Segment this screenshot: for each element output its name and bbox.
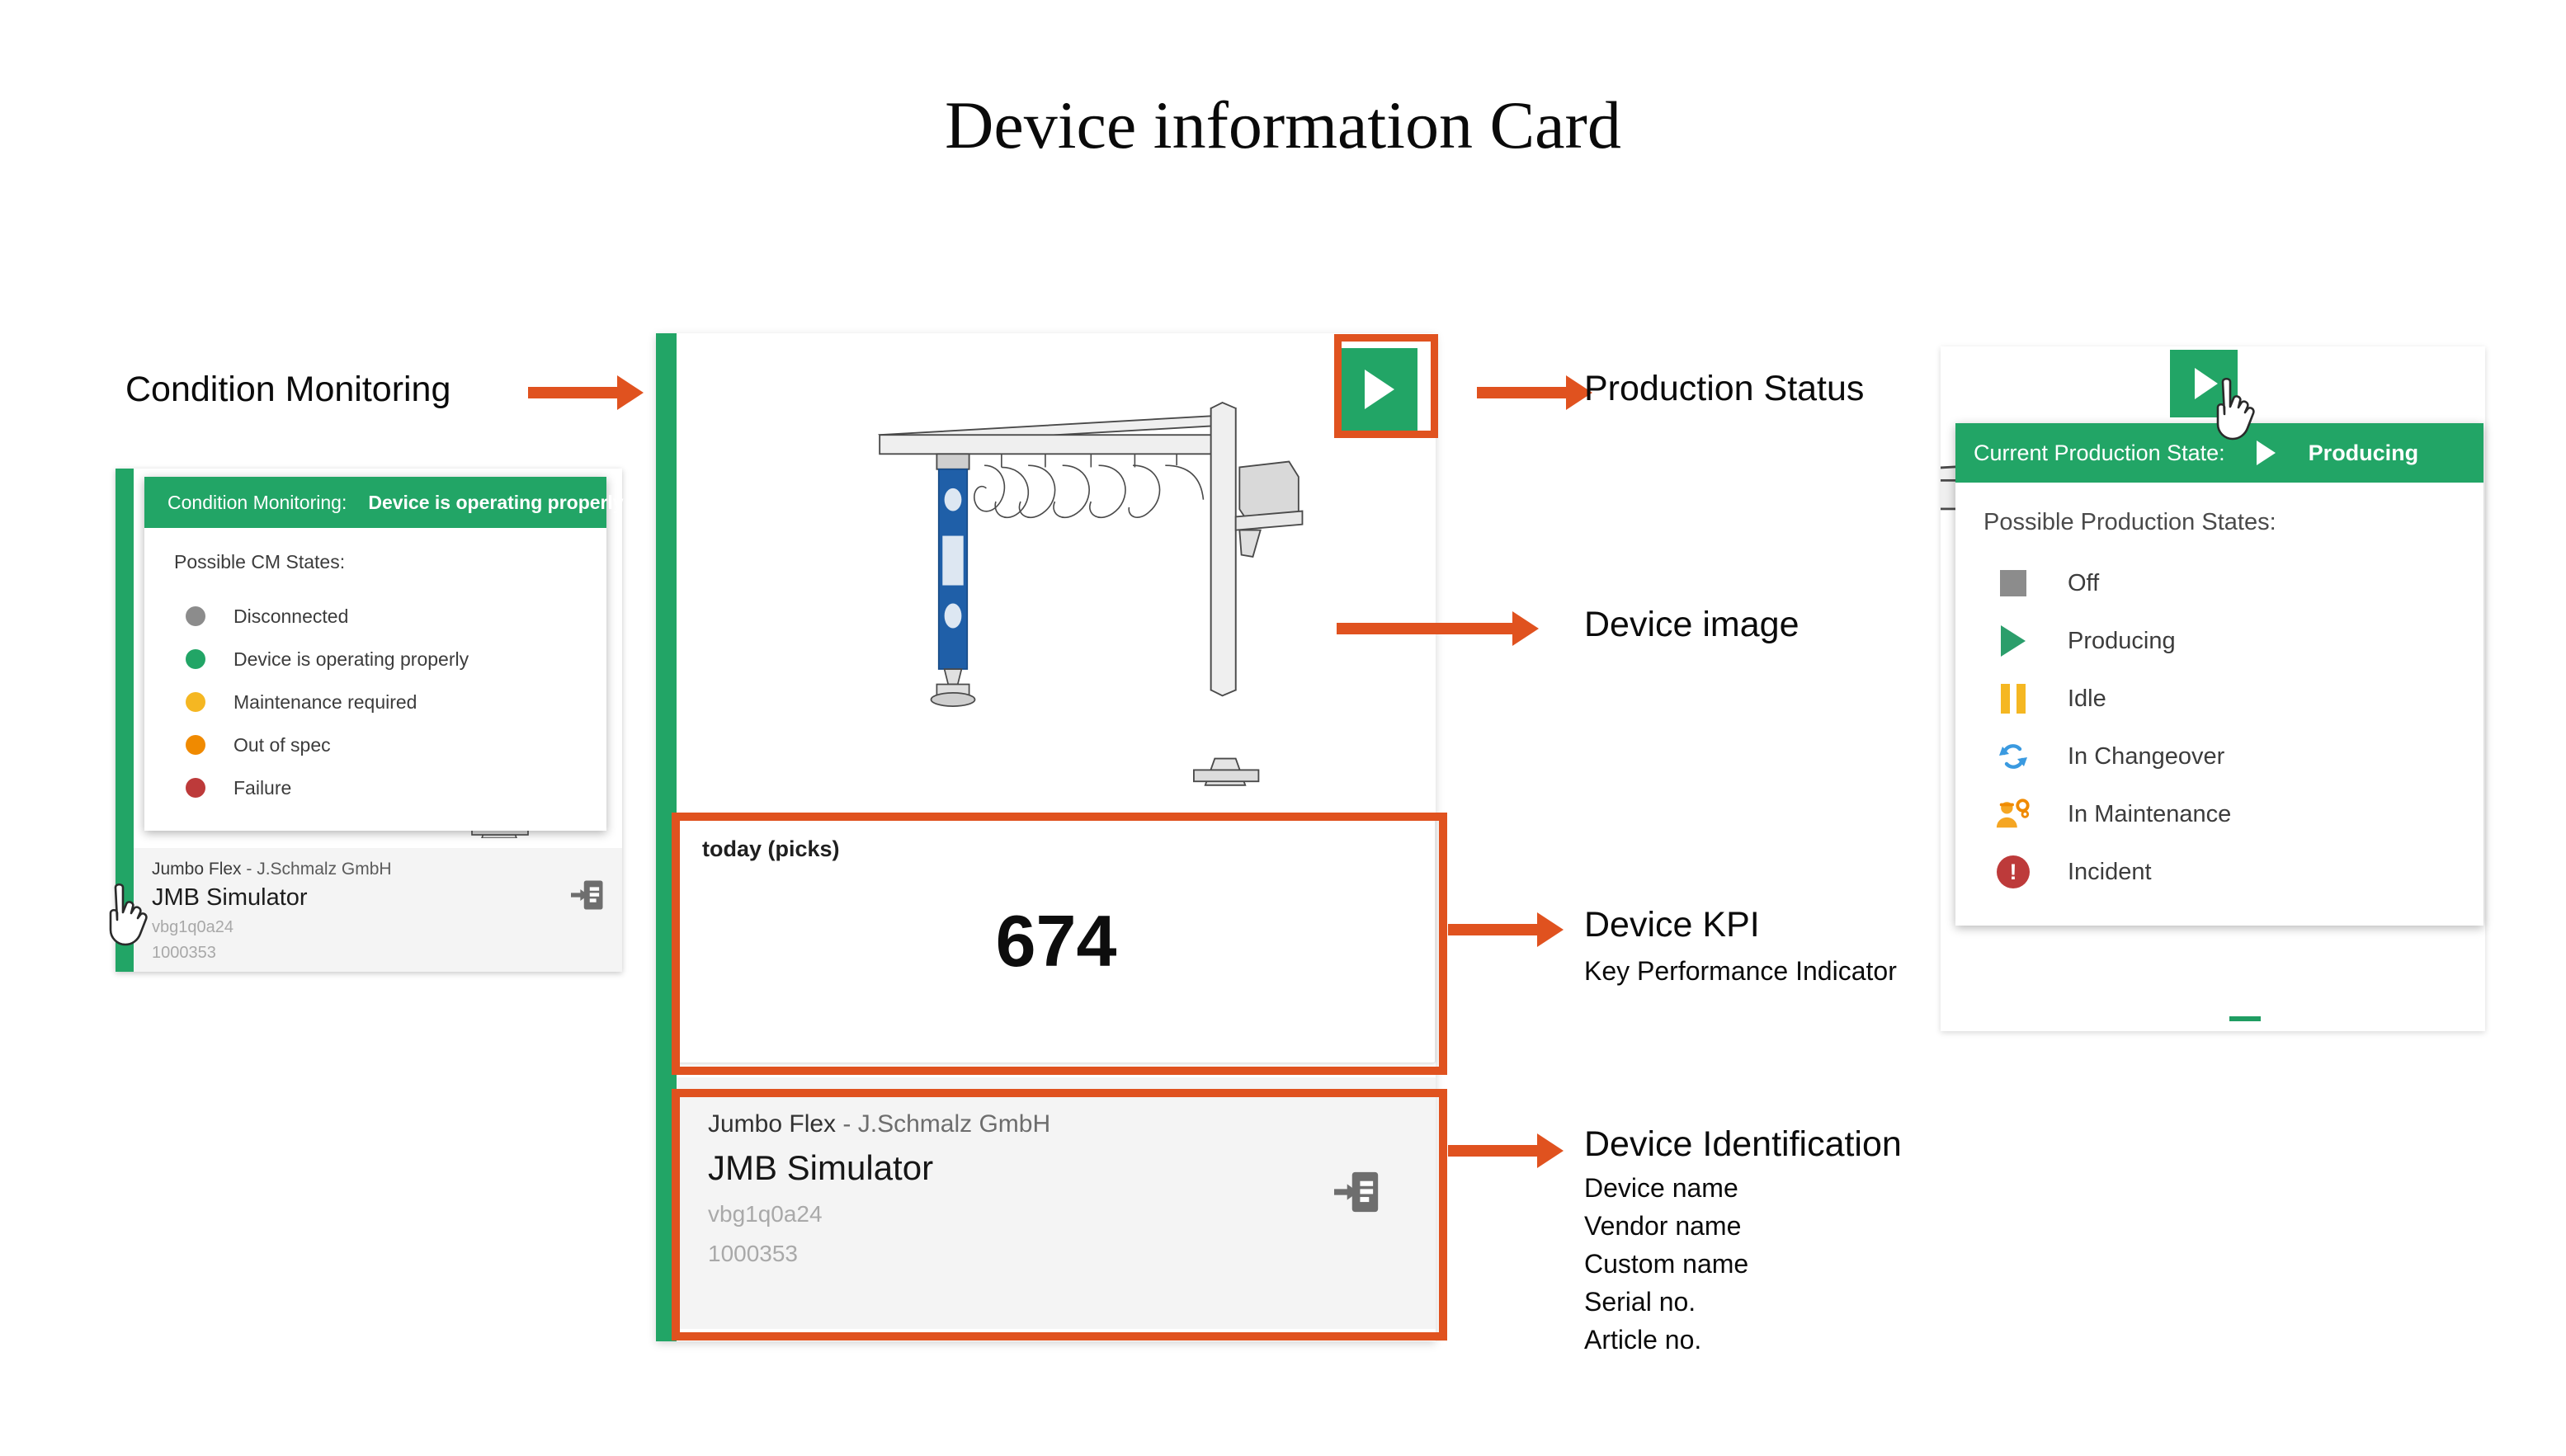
cm-popup-header: Condition Monitoring: Device is operatin… — [144, 477, 606, 528]
vendor-line: Jumbo Flex - J.Schmalz GmbH — [152, 860, 604, 879]
serial-no: vbg1q0a24 — [152, 918, 604, 937]
cm-state-label: Device is operating properly — [233, 648, 469, 671]
kpi-value: 674 — [677, 899, 1435, 983]
annotation-device-identification-line: Vendor name — [1584, 1208, 1741, 1245]
green-dot-icon — [186, 649, 205, 669]
condition-monitoring-bar[interactable] — [656, 333, 677, 1341]
cm-state-label: Failure — [233, 777, 291, 799]
device-information-card[interactable]: today (picks) 674 Jumbo Flex - J.Schmalz… — [656, 333, 1436, 1341]
cm-state-label: Out of spec — [233, 734, 331, 756]
ps-popup-header-label: Current Production State: — [1974, 441, 2225, 466]
annotation-arrow-device-image — [1337, 623, 1514, 634]
annotation-arrow-production-status — [1477, 387, 1568, 398]
cm-state-row[interactable]: Out of spec — [144, 723, 606, 766]
kpi-label: today (picks) — [702, 836, 840, 862]
ps-state-label: Idle — [2068, 686, 2106, 713]
annotation-device-identification: Device Identification — [1584, 1124, 1902, 1165]
red-exclamation-icon: ! — [1995, 854, 2031, 890]
vendor-name: J.Schmalz GmbH — [858, 1110, 1050, 1138]
page-title: Device information Card — [0, 87, 2566, 164]
orange-dot-icon — [186, 735, 205, 755]
login-enter-icon[interactable] — [1334, 1168, 1382, 1216]
cm-state-row[interactable]: Failure — [144, 766, 606, 809]
production-status-highlight — [1334, 334, 1438, 438]
ps-state-label: Incident — [2068, 859, 2152, 886]
cm-state-label: Disconnected — [233, 605, 348, 628]
cm-popup-header-label: Condition Monitoring: — [167, 492, 347, 514]
hand-cursor-icon — [97, 881, 149, 952]
device-image — [677, 333, 1436, 810]
device-name: Jumbo Flex — [152, 860, 242, 879]
annotation-device-identification-line: Article no. — [1584, 1322, 1701, 1359]
annotation-arrow-device-kpi — [1448, 924, 1539, 935]
name-separator: - — [836, 1110, 858, 1138]
annotation-device-identification-line: Custom name — [1584, 1246, 1748, 1283]
device-name: Jumbo Flex — [708, 1110, 836, 1138]
device-identification-tile[interactable]: Jumbo Flex - J.Schmalz GmbH JMB Simulato… — [677, 1077, 1436, 1329]
annotation-production-status: Production Status — [1584, 369, 1864, 409]
green-indicator-segment — [2229, 1016, 2261, 1021]
condition-monitoring-popup: Condition Monitoring: Device is operatin… — [144, 477, 606, 831]
ps-popup-header-value: Producing — [2309, 441, 2419, 466]
ps-popup-body: Possible Production States: Off Producin… — [1955, 483, 2483, 926]
serial-no: vbg1q0a24 — [708, 1201, 1436, 1227]
cm-state-row[interactable]: Disconnected — [144, 595, 606, 638]
ps-state-row[interactable]: Off — [1955, 554, 2483, 612]
custom-name: JMB Simulator — [708, 1148, 1436, 1188]
play-icon — [2257, 441, 2276, 465]
ps-state-label: In Changeover — [2068, 743, 2224, 770]
annotation-condition-monitoring: Condition Monitoring — [125, 370, 450, 410]
jumbo-flex-vacuum-lifter-image — [842, 345, 1337, 807]
ps-state-row[interactable]: In Maintenance — [1955, 785, 2483, 843]
annotation-device-kpi-sub: Key Performance Indicator — [1584, 953, 1897, 990]
grey-square-icon — [1995, 565, 2031, 601]
blue-refresh-icon — [1995, 738, 2031, 775]
annotation-device-image: Device image — [1584, 605, 1800, 645]
article-no: 1000353 — [152, 944, 604, 963]
ps-state-row[interactable]: Idle — [1955, 670, 2483, 728]
annotation-device-identification-line: Serial no. — [1584, 1284, 1696, 1321]
device-kpi-tile[interactable]: today (picks) 674 — [677, 816, 1436, 1063]
ps-state-row[interactable]: ! Incident — [1955, 843, 2483, 901]
hand-cursor-icon — [2205, 375, 2256, 446]
annotation-arrow-condition-monitoring — [528, 387, 619, 398]
ps-state-row[interactable]: Producing — [1955, 612, 2483, 670]
yellow-pause-icon — [1995, 681, 2031, 717]
production-states-popup: Current Production State: Producing Poss… — [1955, 423, 2483, 926]
ps-popup-subtitle: Possible Production States: — [1983, 509, 2483, 536]
green-play-icon — [1995, 623, 2031, 659]
name-separator: - — [242, 860, 257, 879]
orange-worker-gear-icon — [1995, 796, 2031, 832]
red-dot-icon — [186, 778, 205, 798]
ps-state-row[interactable]: In Changeover — [1955, 728, 2483, 785]
annotation-arrow-device-identification — [1448, 1145, 1539, 1157]
cm-state-label: Maintenance required — [233, 691, 417, 714]
yellow-dot-icon — [186, 692, 205, 712]
cm-popup-subtitle: Possible CM States: — [174, 551, 606, 573]
ps-state-label: Producing — [2068, 628, 2176, 655]
annotation-device-kpi: Device KPI — [1584, 905, 1760, 945]
cm-state-row[interactable]: Device is operating properly — [144, 638, 606, 681]
ps-state-label: Off — [2068, 570, 2099, 597]
ps-state-label: In Maintenance — [2068, 801, 2231, 828]
login-enter-icon[interactable] — [571, 878, 606, 912]
cm-popup-body: Possible CM States: Disconnected Device … — [144, 528, 606, 831]
custom-name: JMB Simulator — [152, 884, 604, 912]
cm-popup-header-value: Device is operating properly — [368, 492, 623, 514]
grey-dot-icon — [186, 606, 205, 626]
article-no: 1000353 — [708, 1241, 1436, 1267]
vendor-name: J.Schmalz GmbH — [257, 860, 391, 879]
card-bottom-indicator — [1957, 1016, 2469, 1021]
cm-state-row[interactable]: Maintenance required — [144, 681, 606, 723]
device-identification-left[interactable]: Jumbo Flex - J.Schmalz GmbH JMB Simulato… — [134, 848, 622, 972]
vendor-line: Jumbo Flex - J.Schmalz GmbH — [708, 1110, 1436, 1138]
annotation-device-identification-line: Device name — [1584, 1170, 1738, 1207]
